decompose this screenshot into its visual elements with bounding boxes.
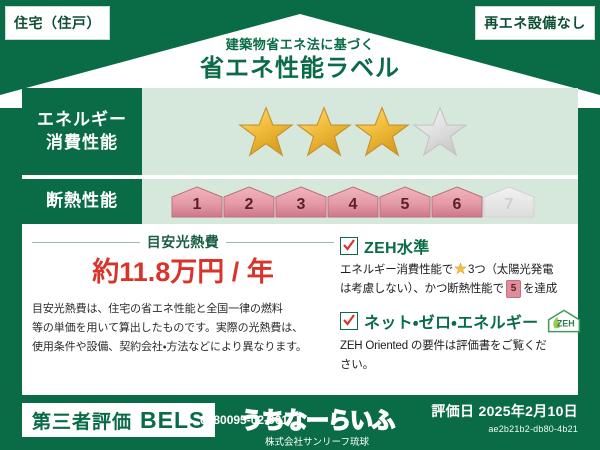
third-party-evaluation-text: 第三者評価 [32,407,132,434]
title-subtitle: 建築物省エネ法に基づく [0,38,600,52]
energy-performance-value [142,88,578,175]
zeh-netzero-title: ネット・ゼロ・エネルギー [364,309,538,333]
cost-disclaimer-line3: 使用条件や設備、契約会社・方法などにより異なります。 [32,338,330,357]
star-icon [353,103,411,161]
cost-disclaimer-line1: 目安光熱費は、住宅の省エネ性能と全国一律の燃料 [32,300,330,319]
bels-certificate-number: 0280095-02-001 [200,413,288,427]
zeh-netzero-heading: ネット・ゼロ・エネルギー ZEH [340,308,582,334]
insulation-level-7: 7 [482,185,536,219]
checkbox-checked-icon[interactable] [340,237,358,255]
evaluation-info: 評価日 2025年2月10日 ae2b21b2-db80-4b21 [431,401,578,434]
cost-heading-text: 目安光熱費 [147,232,220,252]
insulation-level-number: 7 [482,185,536,219]
energy-performance-row: エネルギー 消費性能 [22,88,578,175]
star-icon-empty [411,103,469,161]
label-footer: 第三者評価 BELS 0280095-02-001 評価日 2025年2月10日… [0,395,600,450]
insulation-label-line1: 断熱性能 [46,190,118,213]
star-icon-inline [454,262,467,275]
zeh-standard-heading: ZEH水準 [340,234,582,258]
zeh-netzero-block: ネット・ゼロ・エネルギー ZEH ZEH Oriented の要件は評価書をご覧… [340,308,582,375]
star-rating [237,103,469,161]
lower-section: 目安光熱費 約11.8万円 / 年 目安光熱費は、住宅の省エネ性能と全国一律の燃… [22,224,578,379]
insulation-level-3: 3 [274,185,328,219]
badge-dwelling-type: 住宅（住戸） [5,6,110,40]
insulation-level-1: 1 [170,185,224,219]
insulation-badge-inline: 5 [506,280,521,299]
zeh-netzero-description: ZEH Oriented の要件は評価書をご覧くだ さい。 [340,337,582,375]
cost-disclaimer-line2: 等の単価を用いて算出したものです。実際の光熱費は、 [32,319,330,338]
insulation-performance-value: 1 2 3 [142,179,578,224]
insulation-level-number: 5 [378,185,432,219]
bels-logo-text: BELS [140,407,205,434]
insulation-level-number: 4 [326,185,380,219]
energy-label-document: 住宅（住戸） 再エネ設備なし 建築物省エネ法に基づく 省エネ性能ラベル エネルギ… [0,0,600,450]
cost-value: 約11.8万円 / 年 [32,258,334,288]
rule-right [226,242,334,243]
insulation-performance-label: 断熱性能 [22,179,142,224]
zeh-desc-part4: を達成 [523,283,557,295]
star-icon [237,103,295,161]
checkbox-checked-icon[interactable] [340,312,358,330]
evaluation-date-label: 評価日 [431,403,474,419]
title-main: 省エネ性能ラベル [0,56,600,82]
insulation-level-number: 2 [222,185,276,219]
zeh-standard-description: エネルギー消費性能で3つ（太陽光発電 は考慮しない）、かつ断熱性能で5を達成 [340,261,582,299]
cost-section: 目安光熱費 約11.8万円 / 年 目安光熱費は、住宅の省エネ性能と全国一律の燃… [22,224,334,379]
zeh-standard-block: ZEH水準 エネルギー消費性能で3つ（太陽光発電 は考慮しない）、かつ断熱性能で… [340,234,582,299]
svg-text:ZEH: ZEH [557,318,575,328]
cost-heading: 目安光熱費 [32,232,334,252]
bels-certification-box: 第三者評価 BELS [22,403,215,437]
zeh-netzero-desc-line1: ZEH Oriented の要件は評価書をご覧くだ [340,337,582,356]
star-icon [295,103,353,161]
zeh-desc-part2: 3つ（太陽光発電 [468,264,553,276]
evaluation-date: 評価日 2025年2月10日 [431,401,578,421]
zeh-netzero-desc-line2: さい。 [340,356,582,375]
cost-disclaimer: 目安光熱費は、住宅の省エネ性能と全国一律の燃料 等の単価を用いて算出したものです… [32,300,334,358]
insulation-performance-row: 断熱性能 1 [22,179,578,224]
insulation-scale: 1 2 3 [170,185,534,219]
label-body-card: エネルギー 消費性能 [22,88,578,395]
watermark-company-name: 株式会社サンリーフ琉球 [232,434,402,448]
rule-left [32,242,140,243]
energy-performance-label: エネルギー 消費性能 [22,88,142,175]
energy-label-line1: エネルギー [37,109,127,132]
insulation-level-number: 6 [430,185,484,219]
insulation-level-6: 6 [430,185,484,219]
evaluation-date-value: 2025年2月10日 [478,403,578,419]
insulation-level-4: 4 [326,185,380,219]
zeh-standard-title: ZEH水準 [364,234,430,258]
zeh-desc-part3: は考慮しない）、かつ断熱性能で [340,283,504,295]
insulation-level-number: 1 [170,185,224,219]
label-title: 建築物省エネ法に基づく 省エネ性能ラベル [0,38,600,83]
badge-renewable-equipment: 再エネ設備なし [475,6,595,40]
insulation-level-2: 2 [222,185,276,219]
insulation-level-number: 3 [274,185,328,219]
zeh-house-logo-icon: ZEH [546,308,582,334]
zeh-desc-part1: エネルギー消費性能で [340,264,453,276]
evaluation-id: ae2b21b2-db80-4b21 [431,424,578,434]
insulation-level-5: 5 [378,185,432,219]
zeh-section: ZEH水準 エネルギー消費性能で3つ（太陽光発電 は考慮しない）、かつ断熱性能で… [334,224,588,379]
energy-label-line2: 消費性能 [46,132,118,155]
